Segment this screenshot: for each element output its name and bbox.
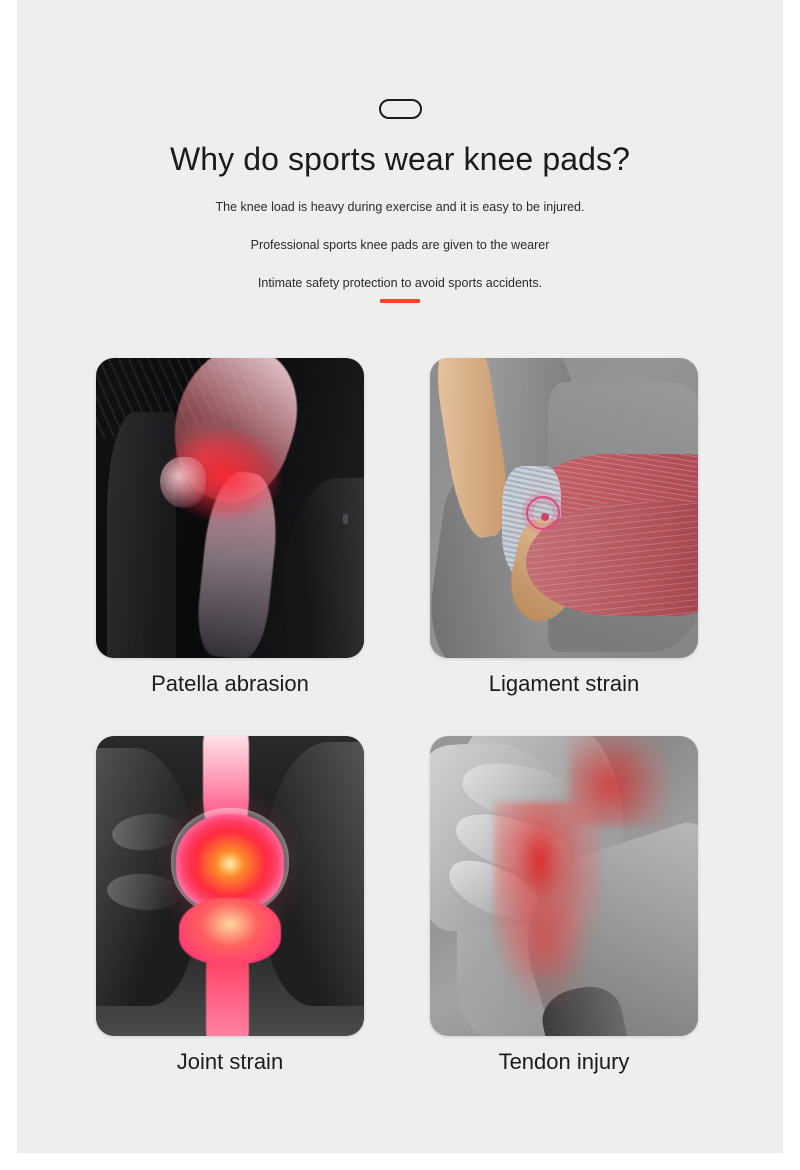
patella-bone-shape <box>160 457 206 508</box>
subtitle-line-3: Intimate safety protection to avoid spor… <box>17 275 783 291</box>
glowing-knee-joint-illustration <box>96 736 364 1036</box>
calf-panel-shape <box>284 478 364 658</box>
tibial-plateau-shape <box>179 898 281 964</box>
pain-glow-lower <box>505 904 585 1006</box>
injury-card-joint-strain[interactable]: Joint strain <box>96 736 364 1076</box>
accent-divider <box>380 299 420 303</box>
thigh-panel-shape <box>107 412 177 658</box>
injury-card-caption: Joint strain <box>96 1048 364 1076</box>
knee-xray-illustration <box>96 358 364 658</box>
header-badge-wrap <box>17 99 783 119</box>
subtitle-line-2: Professional sports knee pads are given … <box>17 237 783 253</box>
pill-badge-icon <box>379 99 422 119</box>
tendon-pain-photo-illustration <box>430 736 698 1036</box>
elbow-anatomy-illustration <box>430 358 698 658</box>
injury-card-image-tendon-injury <box>430 736 698 1036</box>
injury-card-caption: Patella abrasion <box>96 670 364 698</box>
injury-card-caption: Ligament strain <box>430 670 698 698</box>
injury-card-patella-abrasion[interactable]: Patella abrasion <box>96 358 364 698</box>
injury-card-tendon-injury[interactable]: Tendon injury <box>430 736 698 1076</box>
pain-center-dot-icon <box>541 513 549 521</box>
injury-card-ligament-strain[interactable]: Ligament strain <box>430 358 698 698</box>
page-content-area: Why do sports wear knee pads? The knee l… <box>17 0 783 1153</box>
edge-notch <box>343 514 348 524</box>
subtitle-line-1: The knee load is heavy during exercise a… <box>17 199 783 215</box>
injury-card-image-ligament-strain <box>430 358 698 658</box>
injury-card-image-patella-abrasion <box>96 358 364 658</box>
page-title: Why do sports wear knee pads? <box>17 139 783 179</box>
accent-divider-wrap <box>17 299 783 303</box>
injury-card-image-joint-strain <box>96 736 364 1036</box>
injury-card-caption: Tendon injury <box>430 1048 698 1076</box>
